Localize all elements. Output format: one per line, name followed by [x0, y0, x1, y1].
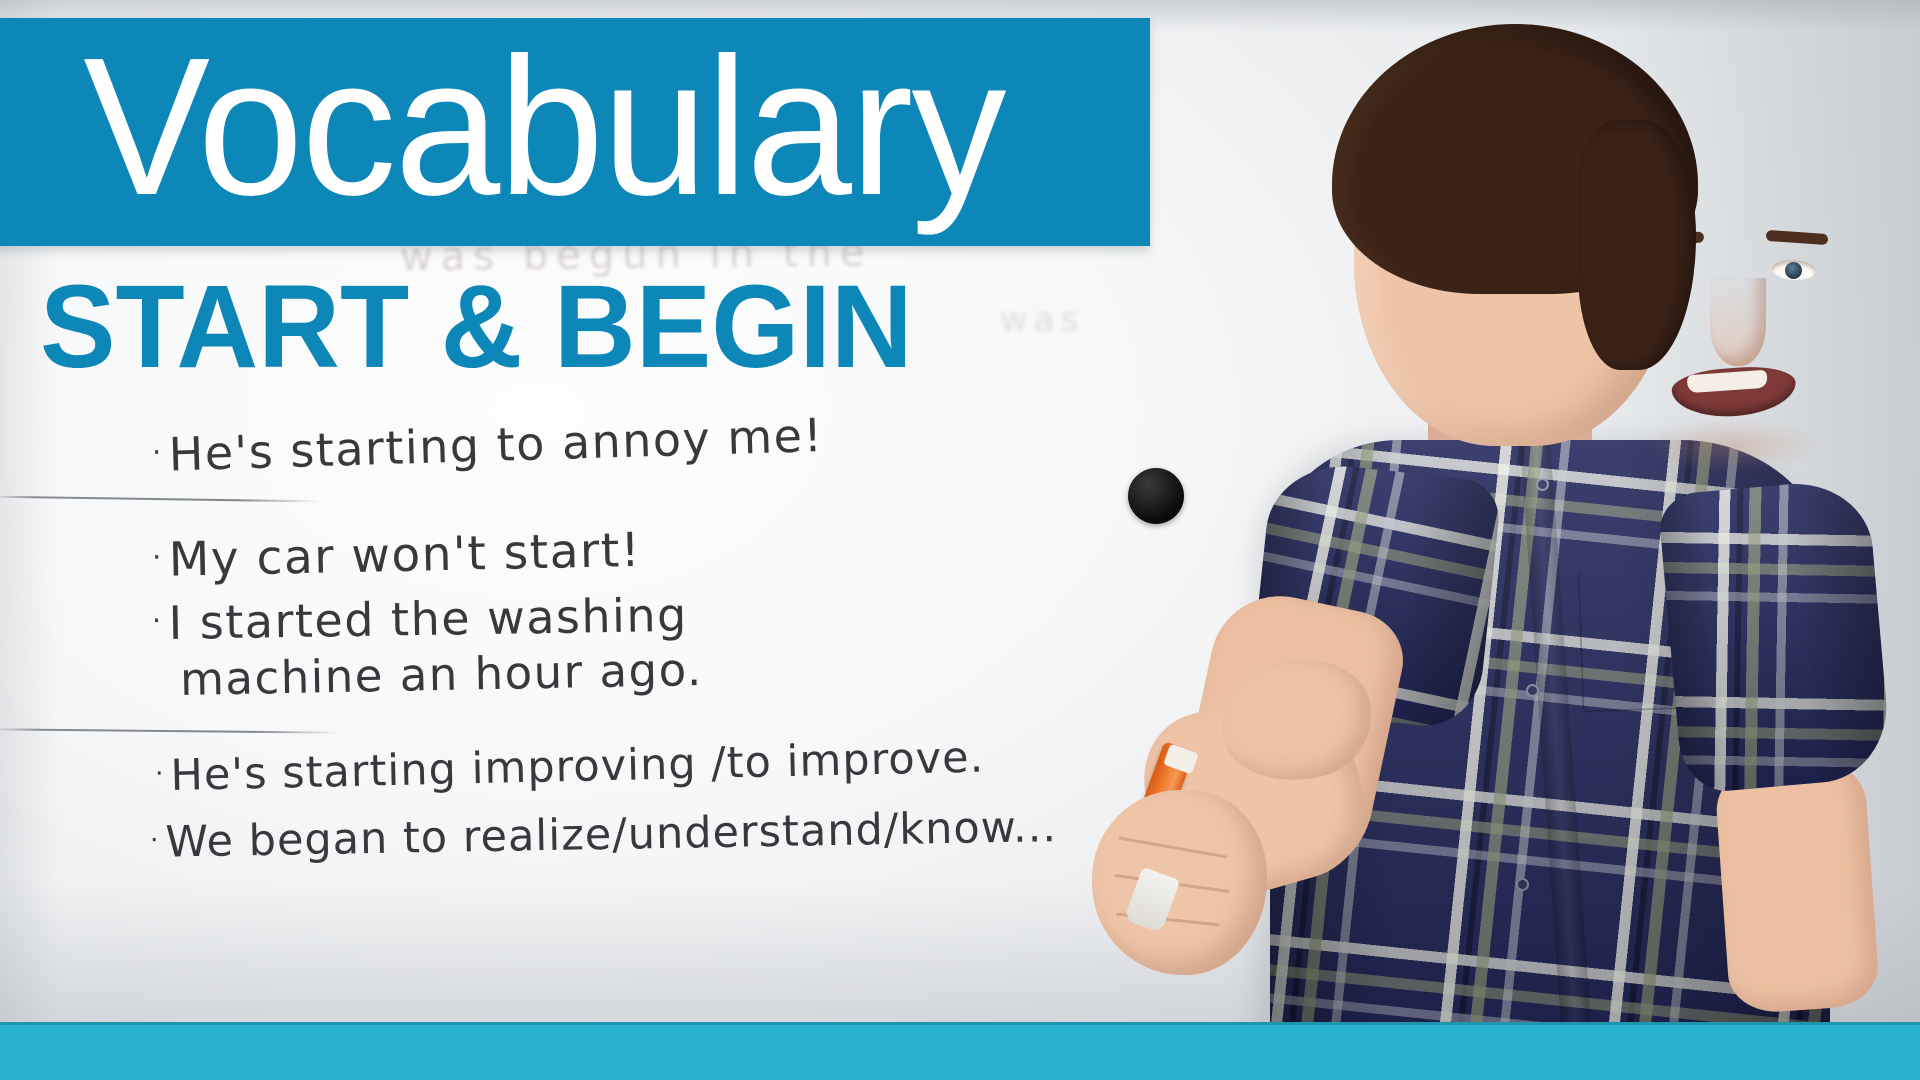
handwriting-text: We began to realize/understand/know...	[165, 802, 1057, 868]
handwritten-line: ·He's starting to annoy me!	[151, 408, 824, 482]
presenter-hair-side	[1578, 120, 1696, 370]
erased-writing-ghost-2: was	[1000, 300, 1084, 340]
handwriting-text: He's starting improving /to improve.	[170, 733, 985, 801]
presenter-right-hand	[1092, 790, 1267, 975]
handwritten-line: ·My car won't start!	[151, 523, 641, 588]
bottom-color-bar	[0, 1022, 1920, 1080]
video-frame: was begun in the was Vocabulary START & …	[0, 0, 1920, 1080]
presenter-left-arm	[1713, 755, 1880, 1015]
lapel-microphone	[1128, 468, 1184, 524]
handwritten-line-continuation: machine an hour ago.	[180, 643, 704, 706]
presenter-left-sleeve	[1657, 477, 1892, 794]
presenter-eye-right	[1772, 259, 1817, 281]
presenter-figure	[1110, 0, 1920, 1030]
handwriting-bullet: ·	[152, 540, 163, 574]
presenter-eyebrow-right	[1766, 230, 1829, 245]
banner-title-text: Vocabulary	[0, 33, 1005, 221]
handwritten-line: ·I started the washing	[152, 588, 689, 650]
handwriting-text: My car won't start!	[168, 523, 641, 588]
presenter-nose	[1710, 278, 1766, 366]
lesson-subtitle: START & BEGIN	[40, 268, 913, 386]
presenter-teeth	[1687, 370, 1768, 394]
handwriting-text: I started the washing	[168, 588, 688, 650]
handwriting-bullet: ·	[152, 604, 163, 637]
presenter-iris	[1785, 262, 1803, 280]
handwriting-bullet: ·	[150, 825, 160, 856]
handwriting-block: ·He's starting to annoy me! ·My car won'…	[0, 410, 1120, 950]
handwritten-line: ·We began to realize/understand/know...	[150, 802, 1058, 868]
handwritten-line: ·He's starting improving /to improve.	[155, 733, 985, 802]
bottom-bar-edge	[0, 1022, 1920, 1025]
sleeve-shading	[1657, 477, 1892, 794]
presenter-mouth	[1670, 364, 1797, 421]
presenter-chin-shading	[1644, 418, 1824, 472]
finger-crease	[1119, 836, 1228, 858]
handwriting-bullet: ·	[152, 436, 164, 469]
handwriting-bullet: ·	[155, 758, 165, 789]
handwriting-text: He's starting to annoy me!	[168, 408, 824, 481]
title-banner: Vocabulary	[0, 18, 1150, 246]
handwriting-text: machine an hour ago.	[180, 643, 704, 706]
